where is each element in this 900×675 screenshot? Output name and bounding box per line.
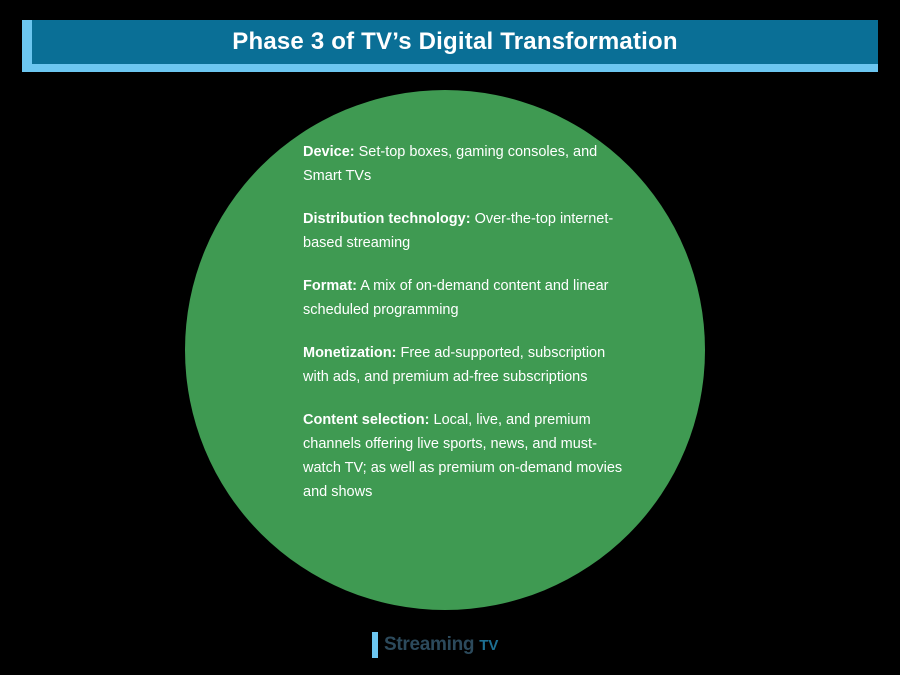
list-item-label: Distribution technology: bbox=[303, 211, 471, 227]
logo-mark: TV bbox=[479, 637, 498, 654]
list-item-label: Monetization: bbox=[303, 345, 396, 361]
list-item: Monetization: Free ad-supported, subscri… bbox=[303, 341, 633, 389]
footer-logo: Streaming TV bbox=[372, 630, 498, 660]
page-title: Phase 3 of TV’s Digital Transformation bbox=[32, 20, 878, 64]
list-item: Content selection: Local, live, and prem… bbox=[303, 408, 633, 504]
logo-bar-icon bbox=[372, 632, 378, 658]
title-bar-accent-left bbox=[22, 20, 32, 64]
title-bar-accent-bottom bbox=[22, 64, 878, 72]
logo-text: Streaming bbox=[384, 634, 474, 656]
list-item-label: Format: bbox=[303, 278, 357, 294]
list-item-label: Device: bbox=[303, 144, 355, 160]
slide-canvas: Phase 3 of TV’s Digital Transformation D… bbox=[0, 0, 900, 675]
list-item: Distribution technology: Over-the-top in… bbox=[303, 207, 633, 255]
list-item: Format: A mix of on-demand content and l… bbox=[303, 274, 633, 322]
bullet-list: Device: Set-top boxes, gaming consoles, … bbox=[303, 140, 633, 504]
list-item-label: Content selection: bbox=[303, 412, 429, 428]
list-item: Device: Set-top boxes, gaming consoles, … bbox=[303, 140, 633, 188]
